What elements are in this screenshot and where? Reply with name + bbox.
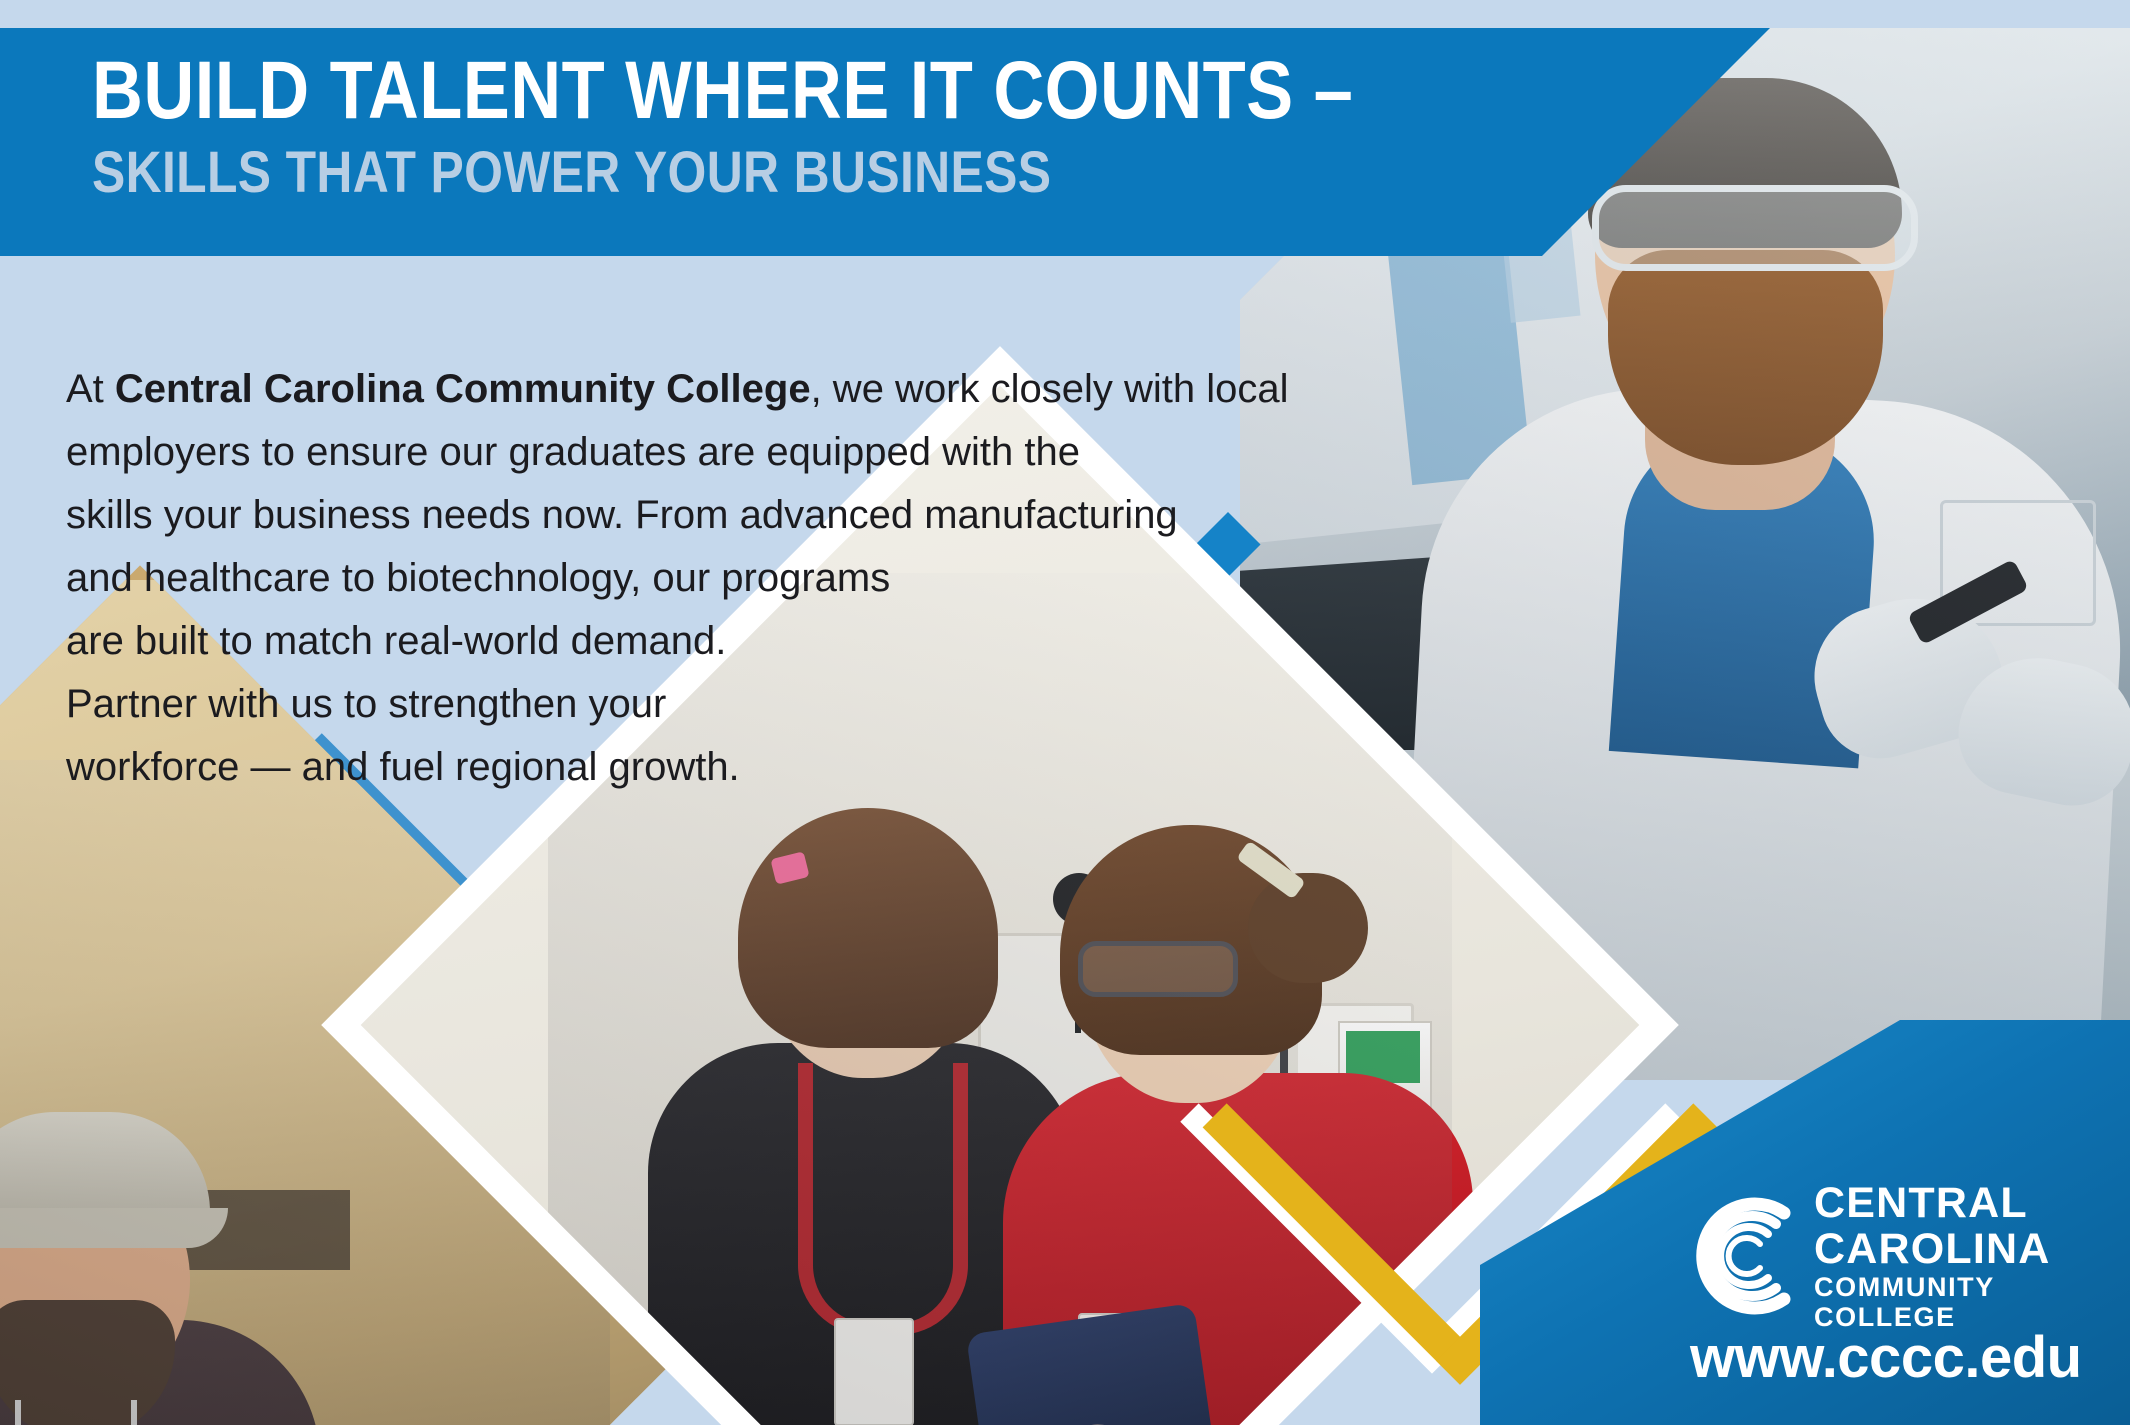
top-background-strip	[0, 0, 2130, 28]
headline-block: BUILD TALENT WHERE IT COUNTS – SKILLS TH…	[92, 48, 1732, 204]
college-name: Central Carolina Community College	[115, 367, 811, 411]
body-intro: At	[66, 367, 115, 411]
headline-secondary: SKILLS THAT POWER YOUR BUSINESS	[92, 142, 1502, 204]
body-paragraph: At Central Carolina Community College, w…	[66, 358, 1396, 799]
logo-wordmark: CENTRAL CAROLINA COMMUNITY COLLEGE	[1814, 1180, 2130, 1332]
logo-name-line1: CENTRAL CAROLINA	[1814, 1180, 2130, 1272]
logo-name-line2: COMMUNITY COLLEGE	[1814, 1272, 2130, 1332]
body-rest: , we work closely with local employers t…	[66, 367, 1289, 789]
swirl-logo-icon	[1680, 1197, 1798, 1315]
cccc-logo: CENTRAL CAROLINA COMMUNITY COLLEGE	[1680, 1180, 2130, 1332]
headline-primary: BUILD TALENT WHERE IT COUNTS –	[92, 48, 1502, 134]
website-url[interactable]: www.cccc.edu	[1690, 1324, 2082, 1391]
poster-canvas: BUILD TALENT WHERE IT COUNTS – SKILLS TH…	[0, 0, 2130, 1425]
